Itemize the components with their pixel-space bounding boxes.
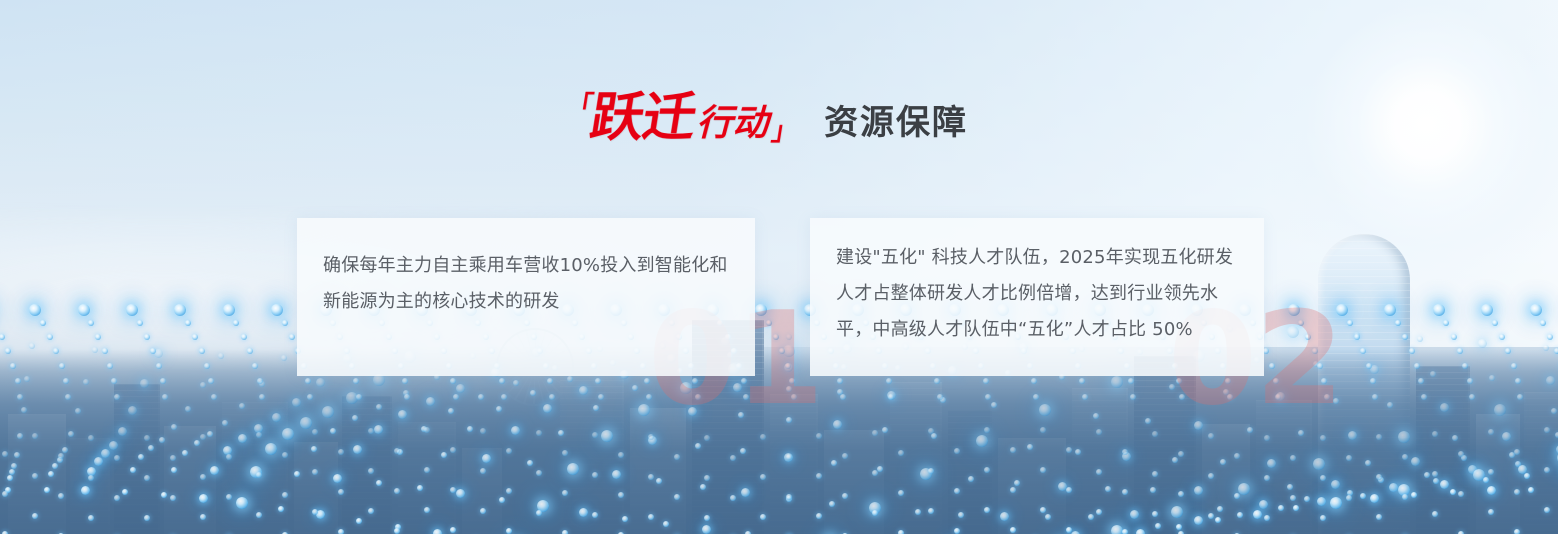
slide-root: 01 02 「 跃迁 行动 」 资源保障 确保每年主力自主乘用车营收10%投入到… (0, 0, 1558, 534)
content-card-01: 确保每年主力自主乘用车营收10%投入到智能化和新能源为主的核心技术的研发 (297, 218, 755, 376)
logo-sub-text: 行动 (694, 106, 776, 142)
card-text-01: 确保每年主力自主乘用车营收10%投入到智能化和新能源为主的核心技术的研发 (297, 218, 755, 320)
logo-quote-close-icon: 」 (770, 118, 800, 144)
page-title: 资源保障 (824, 106, 968, 144)
card-text-02: 建设"五化" 科技人才队伍，2025年实现五化研发人才占整体研发人才比例倍增，达… (810, 218, 1264, 348)
yueqian-action-logo: 「 跃迁 行动 」 (561, 92, 804, 144)
slide-header: 「 跃迁 行动 」 资源保障 (565, 92, 968, 144)
content-card-02: 建设"五化" 科技人才队伍，2025年实现五化研发人才占整体研发人才比例倍增，达… (810, 218, 1264, 376)
logo-main-text: 跃迁 (587, 92, 699, 144)
